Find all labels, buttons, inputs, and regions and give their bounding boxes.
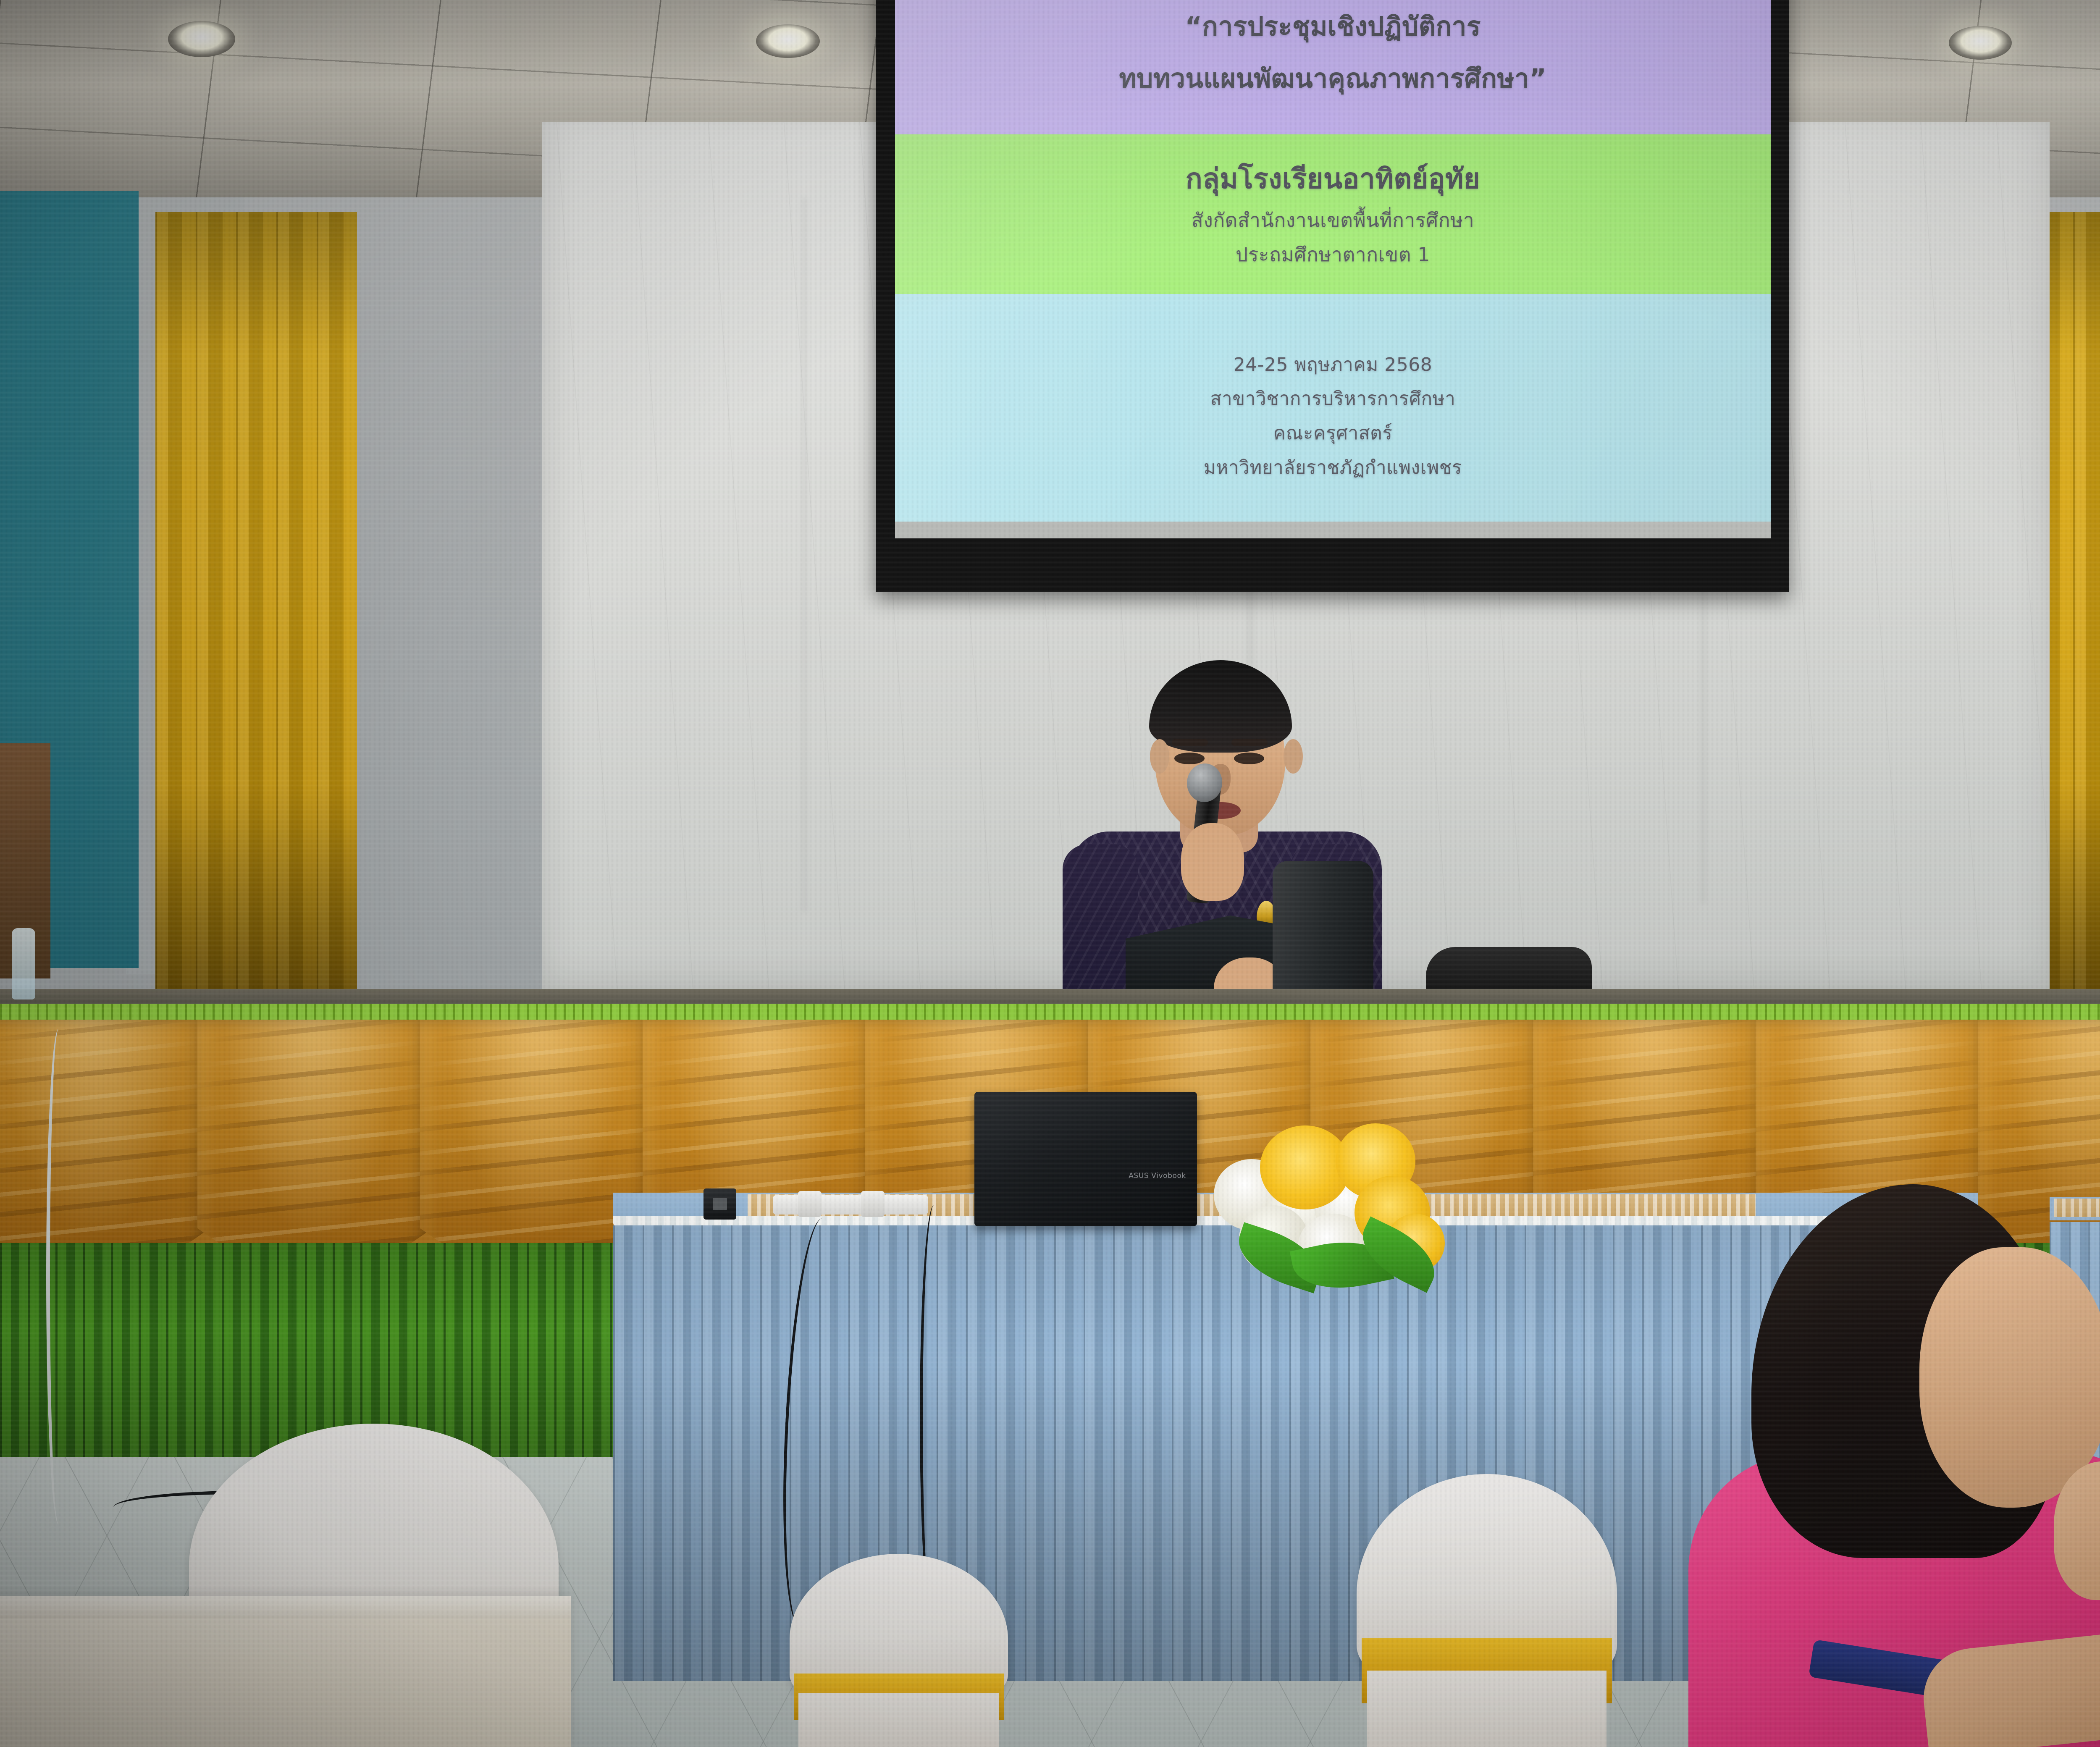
speaker-brow-right (1231, 739, 1268, 746)
speaker-ear-right (1284, 739, 1303, 774)
slide-affiliation-line-1: สังกัดสำนักงานเขตพื้นที่การศึกษา (1192, 208, 1474, 232)
projected-slide: “การประชุมเชิงปฏิบัติการ ทบทวนแผนพัฒนาคุ… (895, 0, 1771, 538)
laptop[interactable]: ASUS Vivobook (974, 1092, 1197, 1226)
speaker-box (703, 1188, 736, 1220)
chair[interactable] (790, 1554, 1008, 1747)
power-strip (773, 1195, 928, 1215)
plug-icon (861, 1191, 885, 1217)
speaker-ear-left (1150, 739, 1169, 774)
slide-title-line-1: “การประชุมเชิงปฏิบัติการ (1185, 10, 1481, 42)
foreground-table-left (0, 1596, 571, 1747)
speaker-hair (1149, 660, 1292, 753)
projection-screen: “การประชุมเชิงปฏิบัติการ ทบทวนแผนพัฒนาคุ… (876, 0, 1789, 592)
speaker-eye-left (1174, 753, 1205, 764)
plug-icon (798, 1191, 822, 1217)
flower-arrangement (1210, 1109, 1445, 1277)
slide-band-blue: 24-25 พฤษภาคม 2568 สาขาวิชาการบริหารการศ… (895, 294, 1771, 538)
speaker-eye-right (1234, 753, 1264, 764)
chair[interactable] (1357, 1474, 1617, 1747)
attendee-in-pink (1630, 1184, 2100, 1747)
slide-affiliation-line-2: ประถมศึกษาตากเขต 1 (1236, 243, 1430, 266)
photo-scene: “การประชุมเชิงปฏิบัติการ ทบทวนแผนพัฒนาคุ… (0, 0, 2100, 1747)
slide-department: สาขาวิชาการบริหารการศึกษา (1210, 388, 1456, 410)
speaker-brow-left (1172, 739, 1208, 746)
slide-faculty: คณะครุศาสตร์ (1273, 422, 1393, 445)
speaker-hand-on-mic (1181, 823, 1244, 901)
laptop-brand-label: ASUS Vivobook (1129, 1172, 1186, 1180)
downlight-icon (756, 24, 820, 58)
cable (46, 1029, 71, 1524)
downlight-icon (1949, 26, 2012, 60)
slide-date: 24-25 พฤษภาคม 2568 (1234, 354, 1433, 376)
slide-university: มหาวิทยาลัยราชภัฏกำแพงเพชร (1204, 456, 1462, 479)
downlight-icon (168, 21, 235, 57)
slide-band-purple: “การประชุมเชิงปฏิบัติการ ทบทวนแผนพัฒนาคุ… (895, 0, 1771, 134)
screen-bottom-bar (895, 522, 1771, 538)
water-bottle (12, 928, 35, 999)
attendee-face (1919, 1247, 2100, 1508)
stage-curtain-left (155, 212, 357, 1002)
slide-band-green: กลุ่มโรงเรียนอาทิตย์อุทัย สังกัดสำนักงาน… (895, 134, 1771, 294)
slide-title-line-2: ทบทวนแผนพัฒนาคุณภาพการศึกษา” (1119, 63, 1546, 94)
slide-group-name: กลุ่มโรงเรียนอาทิตย์อุทัย (1186, 162, 1480, 196)
